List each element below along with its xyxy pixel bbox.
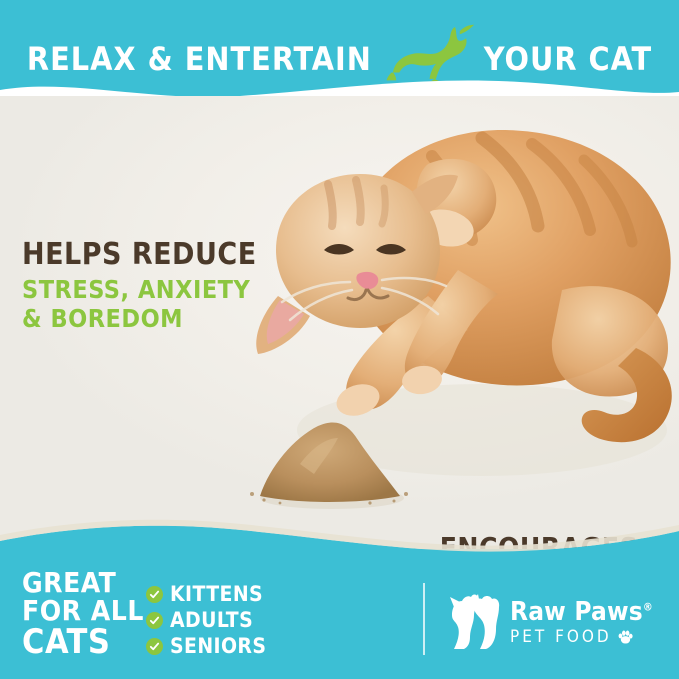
list-item: KITTENS: [146, 581, 316, 607]
paw-print-icon: [618, 630, 633, 644]
registered-mark: ®: [643, 600, 653, 613]
brand-tagline: PET FOOD: [510, 629, 653, 646]
headline-part-1: RELAX & ENTERTAIN: [27, 40, 372, 78]
brand-text: Raw Paws® PET FOOD: [510, 599, 653, 646]
brand-tagline-text: PET FOOD: [510, 629, 612, 646]
cat-photo: HELPS REDUCE STRESS, ANXIETY & BOREDOM E…: [0, 96, 679, 558]
great-line-2: FOR ALL: [22, 597, 152, 625]
check-icon: [146, 612, 163, 629]
footer-band: GREAT FOR ALL CATS KITTENS ADULTS: [0, 549, 679, 679]
footer-wave-divider: [0, 519, 679, 559]
checklist-label: KITTENS: [170, 582, 263, 606]
product-feature-poster: RELAX & ENTERTAIN YOUR CAT: [0, 0, 679, 679]
great-line-3: CATS: [22, 625, 152, 659]
benefit-helps-line2: STRESS, ANXIETY: [22, 275, 292, 304]
catnip-powder-pile: [240, 404, 420, 512]
list-item: SENIORS: [146, 633, 316, 659]
benefit-helps-line1: HELPS REDUCE: [22, 238, 292, 272]
benefit-helps-reduce: HELPS REDUCE STRESS, ANXIETY & BOREDOM: [22, 238, 292, 333]
great-line-1: GREAT: [22, 569, 152, 597]
header-band: RELAX & ENTERTAIN YOUR CAT: [0, 0, 679, 108]
age-checklist: KITTENS ADULTS SENIORS: [146, 581, 316, 659]
jumping-cat-icon: [380, 20, 476, 82]
benefit-helps-line3: & BOREDOM: [22, 304, 292, 333]
brand-name: Raw Paws®: [510, 597, 653, 627]
headline-part-2: YOUR CAT: [484, 40, 652, 78]
check-icon: [146, 638, 163, 655]
brand-logo: Raw Paws® PET FOOD: [444, 591, 653, 653]
checklist-label: ADULTS: [170, 608, 253, 632]
check-icon: [146, 586, 163, 603]
list-item: ADULTS: [146, 607, 316, 633]
checklist-label: SENIORS: [170, 634, 266, 658]
great-for-all-cats-text: GREAT FOR ALL CATS: [22, 569, 152, 659]
brand-name-text: Raw Paws: [510, 597, 643, 627]
cat-dog-silhouette-icon: [444, 591, 500, 653]
footer-divider: [423, 583, 425, 655]
